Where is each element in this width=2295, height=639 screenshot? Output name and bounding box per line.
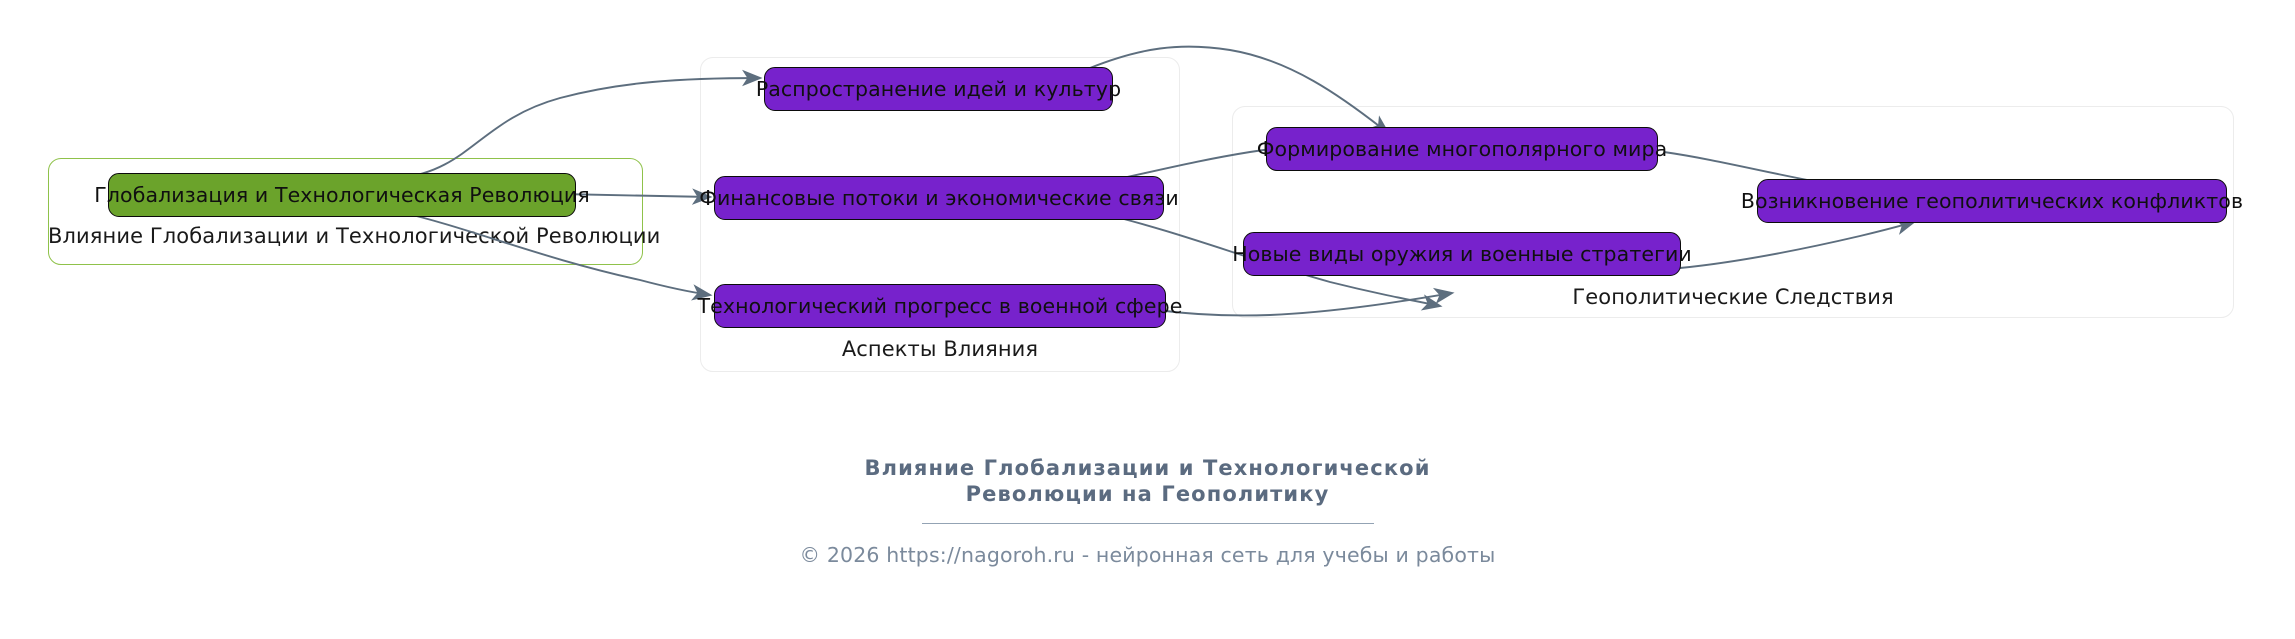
node-financial-flows-economic-ties[interactable]: Финансовые потоки и экономические связи <box>714 176 1164 220</box>
node-label: Глобализация и Технологическая Революция <box>94 185 590 206</box>
node-label: Возникновение геополитических конфликтов <box>1741 191 2243 212</box>
flowchart-diagram: Влияние Глобализации и Технологической Р… <box>0 0 2295 460</box>
edge-n6-n7 <box>1680 222 1914 268</box>
node-label: Новые виды оружия и военные стратегии <box>1232 244 1692 265</box>
node-spread-of-ideas-cultures[interactable]: Распространение идей и культур <box>764 67 1113 111</box>
document-title-line-1: Влияние Глобализации и Технологической <box>768 455 1528 481</box>
node-globalization-tech-revolution[interactable]: Глобализация и Технологическая Революция <box>108 173 576 217</box>
node-military-tech-progress[interactable]: Технологический прогресс в военной сфере <box>714 284 1166 328</box>
edge-layer <box>0 0 2295 460</box>
edge-n1-n2 <box>400 78 760 178</box>
document-title-line-2: Революции на Геополитику <box>768 481 1528 507</box>
node-label: Распространение идей и культур <box>756 79 1121 100</box>
node-label: Формирование многополярного мира <box>1257 139 1668 160</box>
node-multipolar-world-formation[interactable]: Формирование многополярного мира <box>1266 127 1658 171</box>
document-title: Влияние Глобализации и Технологической Р… <box>768 455 1528 507</box>
copyright-text: © 2026 https://nagoroh.ru - нейронная се… <box>0 543 2295 567</box>
node-label: Технологический прогресс в военной сфере <box>698 296 1183 317</box>
footer-block: Влияние Глобализации и Технологической Р… <box>0 455 2295 567</box>
node-geopolitical-conflicts[interactable]: Возникновение геополитических конфликтов <box>1757 179 2227 223</box>
page-root: Влияние Глобализации и Технологической Р… <box>0 0 2295 639</box>
node-new-weapons-military-strategies[interactable]: Новые виды оружия и военные стратегии <box>1243 232 1681 276</box>
title-divider <box>922 523 1374 524</box>
node-label: Финансовые потоки и экономические связи <box>699 188 1179 209</box>
edge-n2-n5 <box>1090 47 1388 133</box>
edge-n1-n4 <box>400 212 710 295</box>
